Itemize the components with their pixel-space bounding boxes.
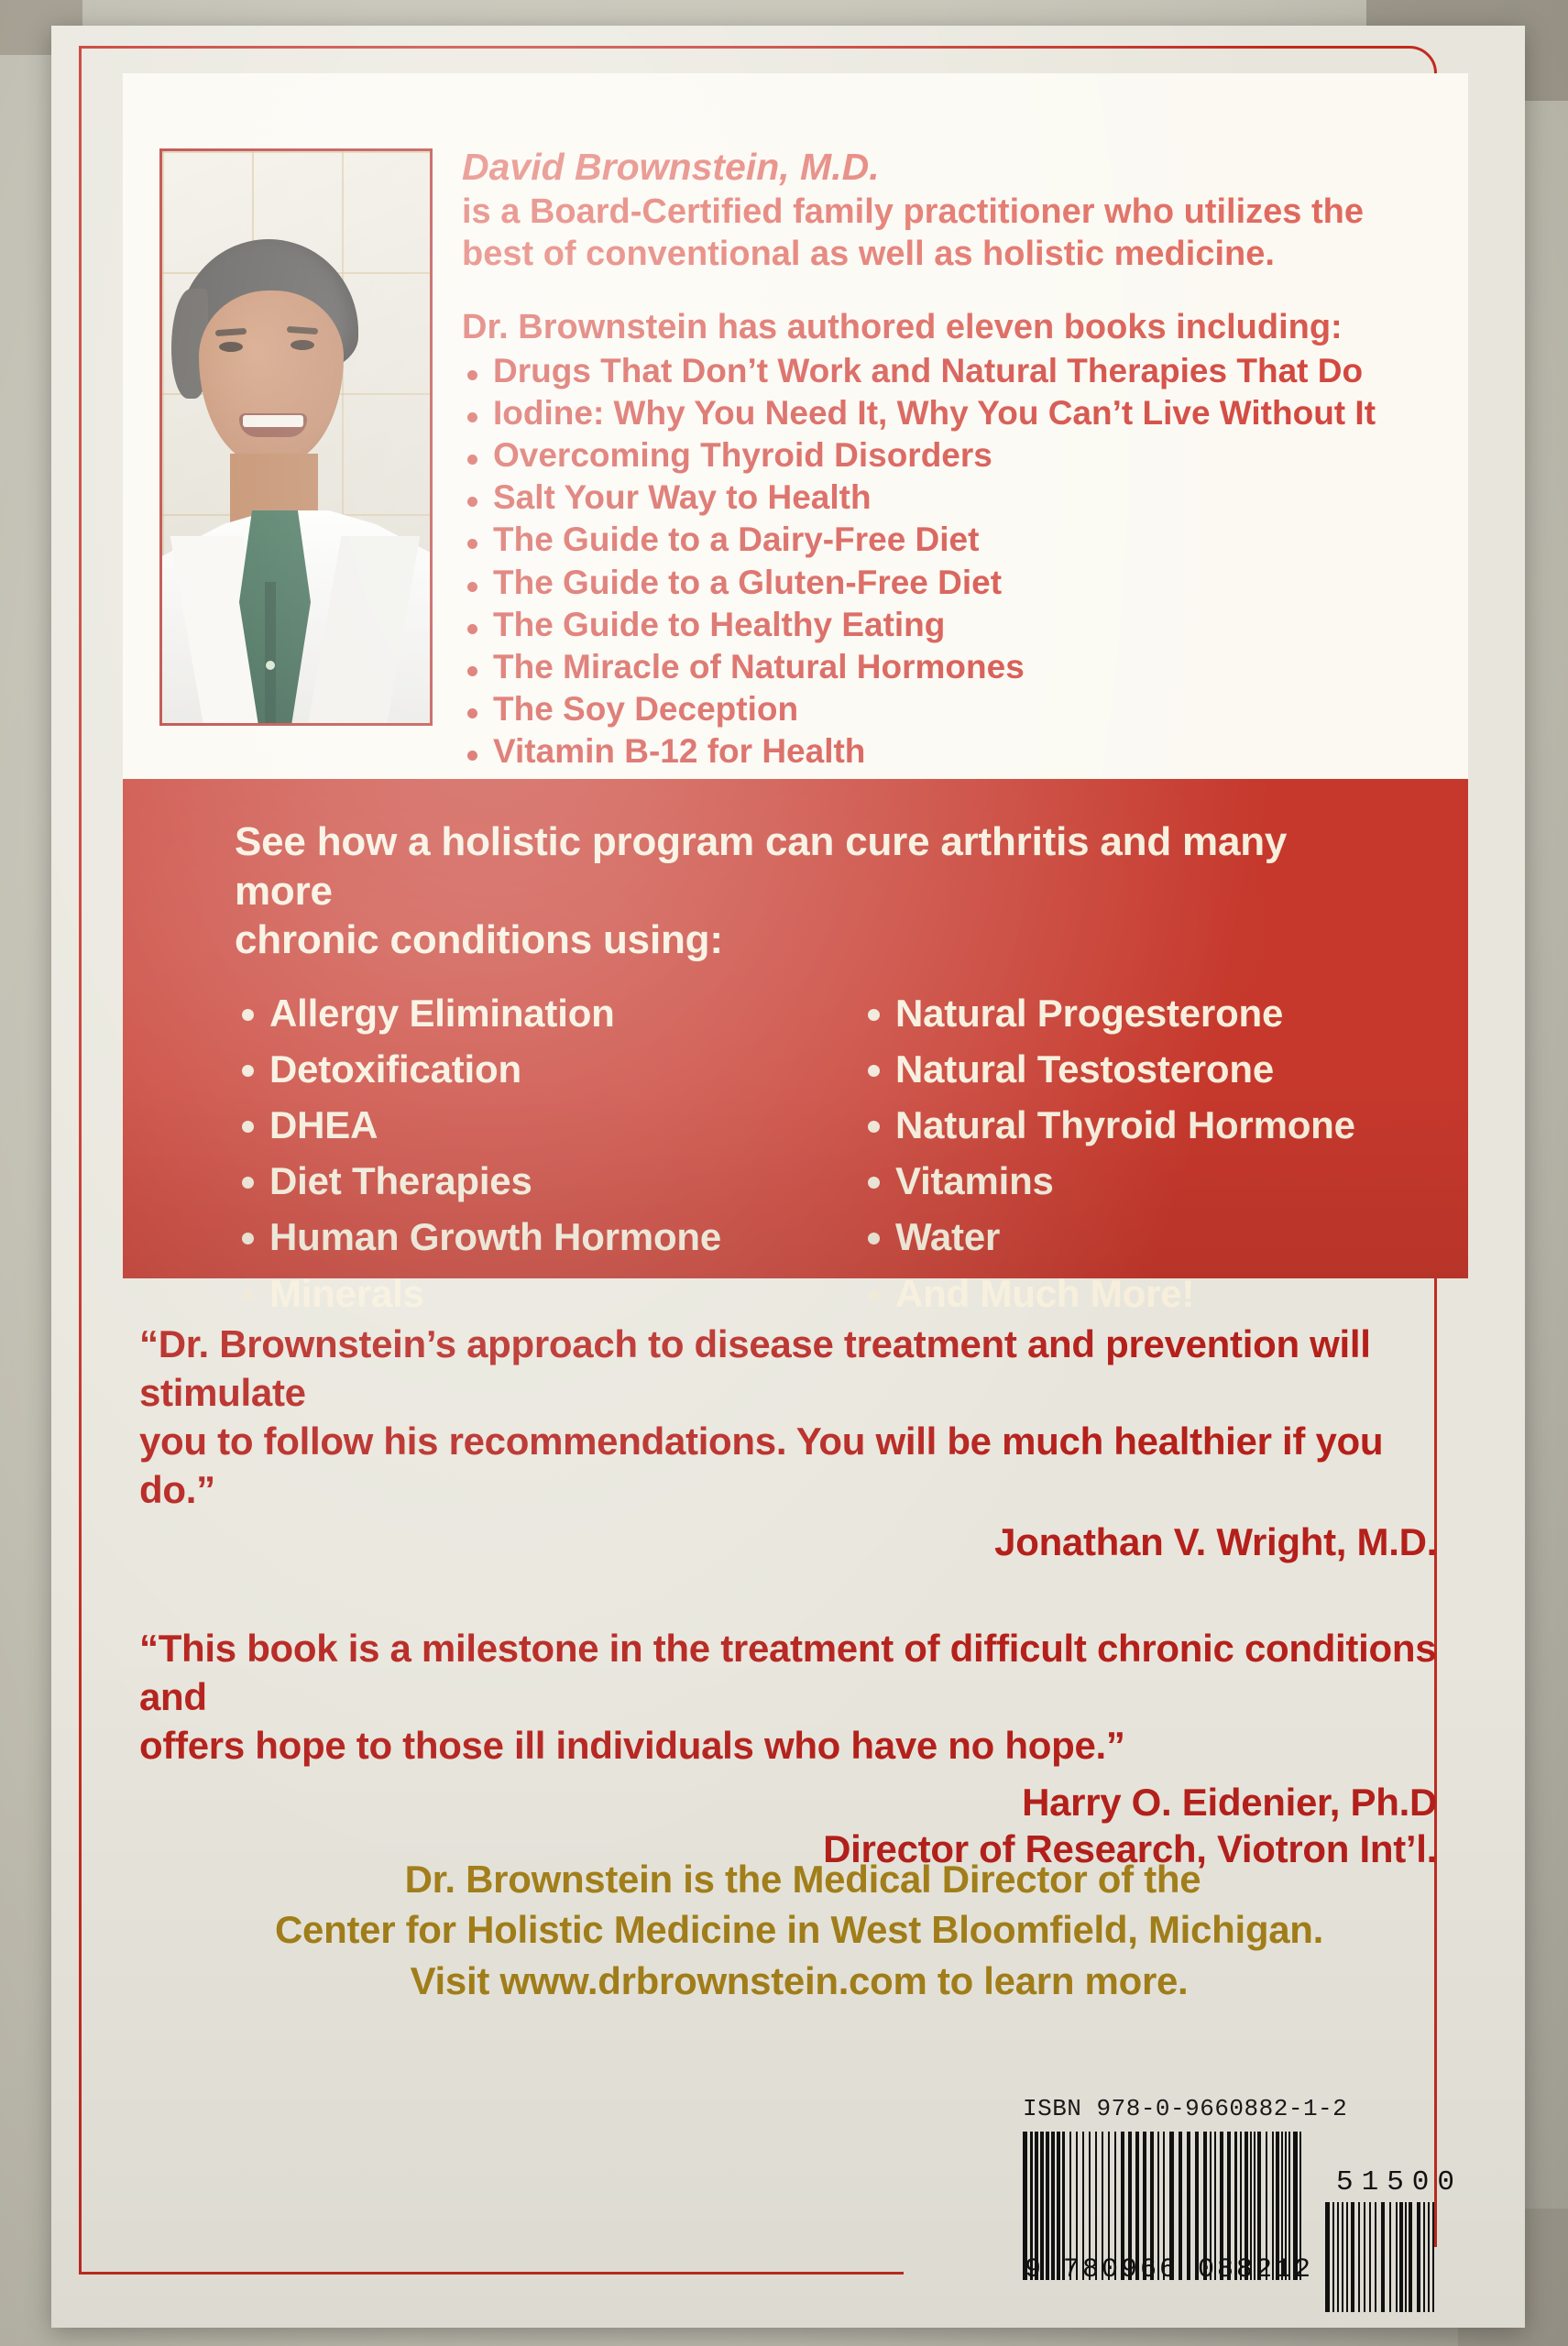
list-item: DHEA [235,1097,721,1153]
price-addon-digits: 51500 [1336,2166,1463,2198]
list-item: Salt Your Way to Health [462,477,1424,519]
clinic-information: Dr. Brownstein is the Medical Director o… [139,1854,1459,2006]
list-item: The Soy Deception [462,688,1424,730]
list-item: Detoxification [235,1041,721,1097]
portrait-smiling-mouth [239,413,307,437]
price-addon-barcode: 51500 [1325,2166,1463,2312]
list-item: The Guide to Healthy Eating [462,604,1424,646]
holistic-list-left: Allergy Elimination Detoxification DHEA … [235,985,721,1321]
list-item: The Guide to a Gluten-Free Diet [462,562,1424,604]
list-item: Natural Progesterone [861,985,1355,1041]
author-description-line: is a Board-Certified family practitioner… [462,191,1424,233]
author-description: is a Board-Certified family practitioner… [462,191,1424,276]
author-bio-panel: David Brownstein, M.D. is a Board-Certif… [123,73,1468,779]
list-item: Minerals [235,1266,721,1321]
testimonial-quote-line: “Dr. Brownstein’s approach to disease tr… [139,1320,1459,1417]
list-item: Diet Therapies [235,1153,721,1209]
testimonial-attribution-line: Harry O. Eidenier, Ph.D [139,1779,1437,1825]
portrait-teeth [243,415,303,427]
list-item: Water [861,1209,1355,1265]
photograph-background: David Brownstein, M.D. is a Board-Certif… [0,0,1568,2346]
price-addon-bars [1325,2202,1463,2312]
clinic-line-director: Dr. Brownstein is the Medical Director o… [139,1854,1459,1904]
portrait-eye-left [219,342,243,352]
holistic-list-right: Natural Progesterone Natural Testosteron… [861,985,1355,1321]
testimonial-quote: “This book is a milestone in the treatme… [139,1624,1459,1770]
author-name: David Brownstein, M.D. [462,147,1424,189]
isbn-label: ISBN 978-0-9660882-1-2 [1023,2095,1499,2122]
holistic-program-panel: See how a holistic program can cure arth… [123,779,1468,1278]
list-item: The Miracle of Natural Hormones [462,646,1424,688]
list-item: Vitamins [861,1153,1355,1209]
testimonial-quote-line: “This book is a milestone in the treatme… [139,1624,1459,1721]
books-intro-text: Dr. Brownstein has authored eleven books… [462,307,1424,349]
list-item: Natural Thyroid Hormone [861,1097,1355,1153]
barcode-digits: 9 780966 088212 [1023,2254,1313,2286]
clinic-line-address: Center for Holistic Medicine in West Blo… [139,1904,1459,1955]
book-back-cover: David Brownstein, M.D. is a Board-Certif… [51,26,1525,2328]
author-portrait-photo [159,148,433,726]
holistic-heading-line: chronic conditions using: [235,915,1380,965]
list-item: Vitamin B-12 for Health [462,730,1424,773]
portrait-eye-right [291,340,314,350]
testimonial-quote-line: you to follow his recommendations. You w… [139,1417,1459,1514]
list-item: Allergy Elimination [235,985,721,1041]
testimonials-section: “Dr. Brownstein’s approach to disease tr… [139,1320,1459,1873]
portrait-shirt-button [266,661,275,670]
list-item: Drugs That Don’t Work and Natural Therap… [462,350,1424,392]
testimonial-quote-line: offers hope to those ill individuals who… [139,1721,1459,1770]
authored-books-list: Drugs That Don’t Work and Natural Therap… [462,350,1424,773]
list-item: And Much More! [861,1266,1355,1321]
holistic-heading-line: See how a holistic program can cure arth… [235,817,1380,915]
list-item: Overcoming Thyroid Disorders [462,434,1424,477]
holistic-program-columns: Allergy Elimination Detoxification DHEA … [235,985,1468,1321]
list-item: The Guide to a Dairy-Free Diet [462,519,1424,561]
author-description-line: best of conventional as well as holistic… [462,233,1424,275]
holistic-program-heading: See how a holistic program can cure arth… [235,817,1380,965]
portrait-shirt-placket [265,582,276,726]
barcode-area: ISBN 978-0-9660882-1-2 9 780966 088212 5… [1004,2095,1499,2324]
list-item: Human Growth Hormone [235,1209,721,1265]
testimonial-attribution: Jonathan V. Wright, M.D. [139,1518,1459,1565]
author-text-column: David Brownstein, M.D. is a Board-Certif… [462,147,1424,773]
list-item: Iodine: Why You Need It, Why You Can’t L… [462,392,1424,434]
ean13-barcode: 9 780966 088212 [1023,2132,1313,2286]
clinic-line-website: Visit www.drbrownstein.com to learn more… [139,1956,1459,2006]
testimonial-attribution-line: Jonathan V. Wright, M.D. [139,1518,1437,1565]
testimonial-quote: “Dr. Brownstein’s approach to disease tr… [139,1320,1459,1515]
list-item: Natural Testosterone [861,1041,1355,1097]
